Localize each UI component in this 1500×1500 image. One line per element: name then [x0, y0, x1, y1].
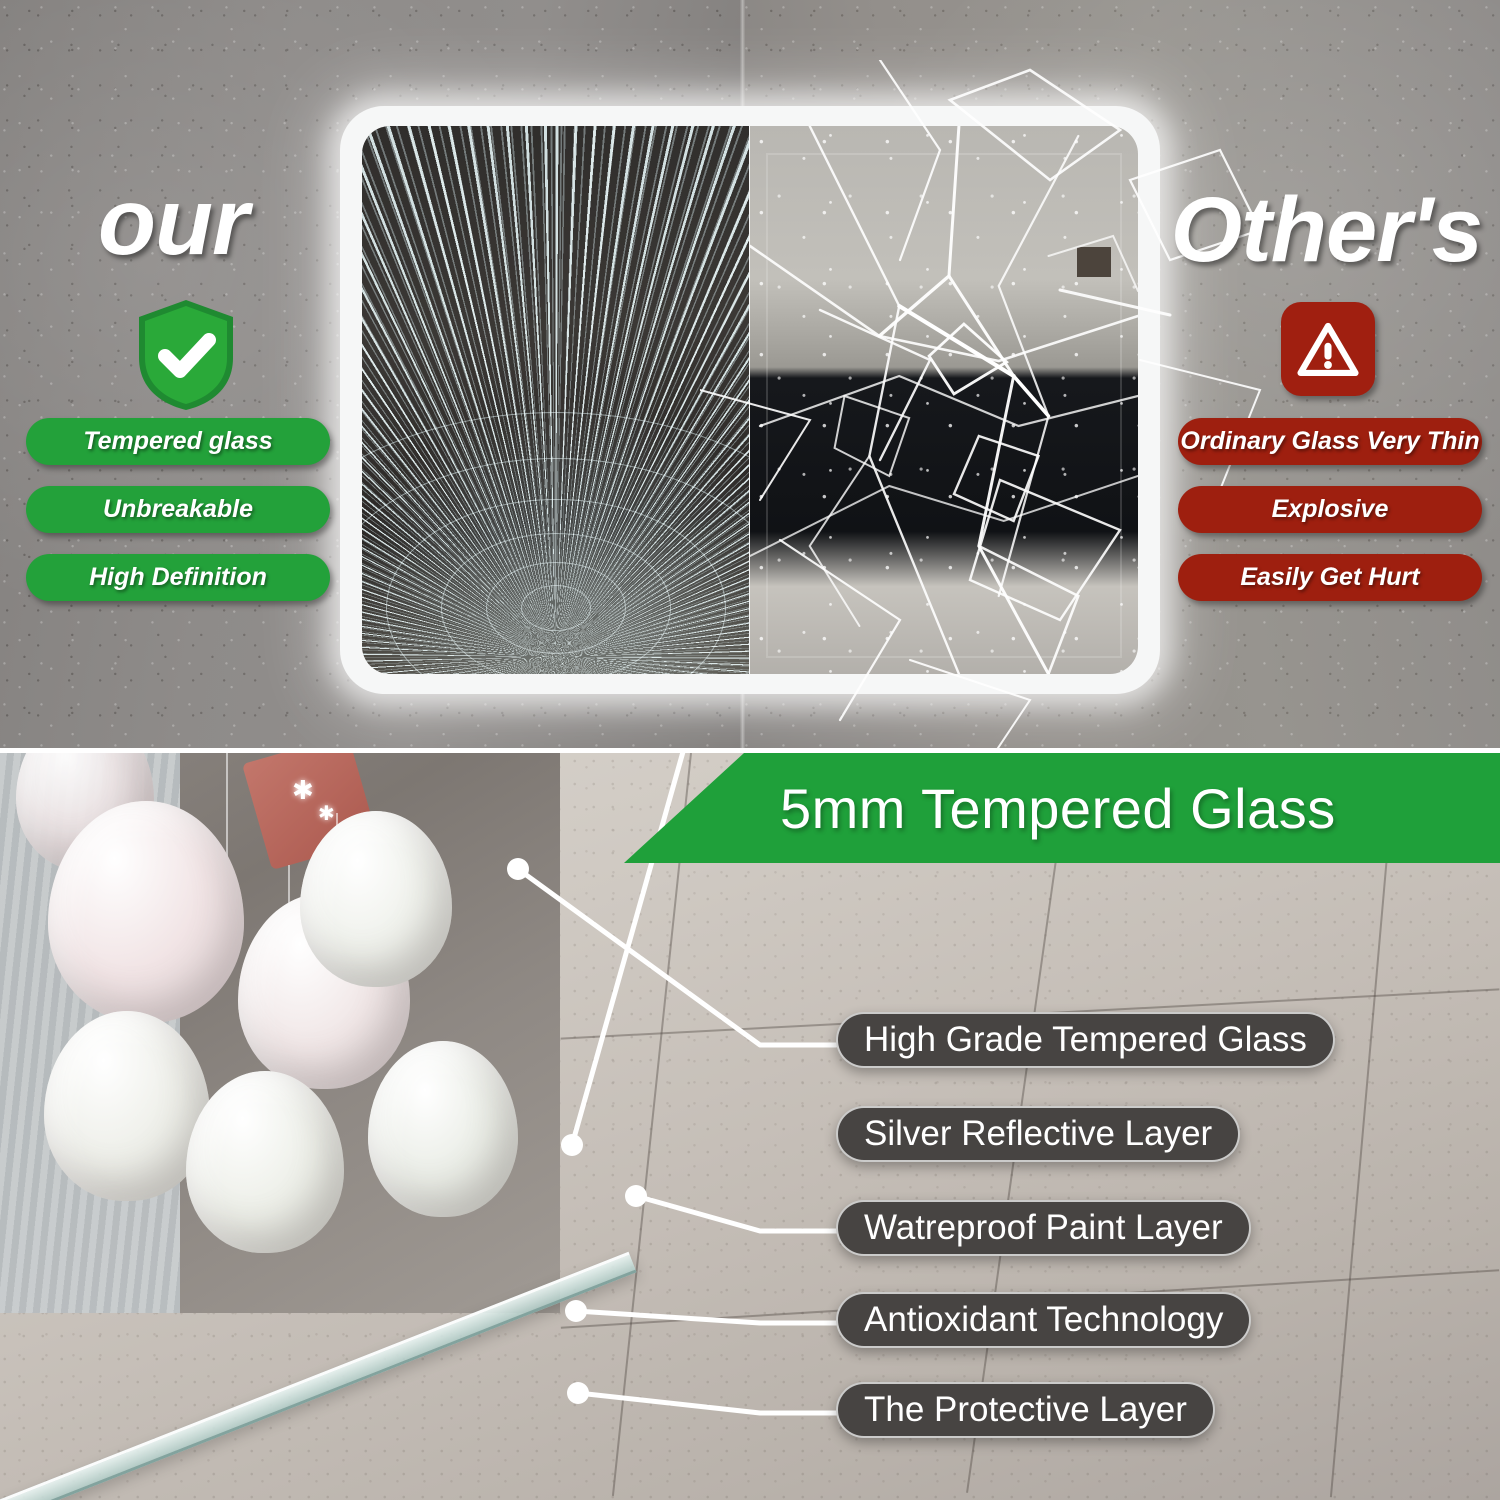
- chip-unbreakable[interactable]: Unbreakable: [26, 486, 330, 533]
- others-drawback-list: Ordinary Glass Very Thin Explosive Easil…: [1178, 418, 1482, 601]
- chip-tempered-glass[interactable]: Tempered glass: [26, 418, 330, 465]
- callout-protective-layer[interactable]: The Protective Layer: [836, 1382, 1215, 1438]
- comparison-panel: our Tempered glass Unbreakable High Defi…: [0, 0, 1500, 748]
- page-title-our: our: [98, 168, 248, 277]
- mirror-glass-surface: [362, 126, 1138, 674]
- led-mirror-unit: [340, 106, 1160, 694]
- callout-waterproof-paint-layer[interactable]: Watreproof Paint Layer: [836, 1200, 1251, 1256]
- our-benefit-list: Tempered glass Unbreakable High Definiti…: [26, 418, 330, 601]
- construction-panel: ✱ ✱: [0, 753, 1500, 1500]
- glass-shard-cracks: [750, 126, 1138, 674]
- chip-easily-get-hurt[interactable]: Easily Get Hurt: [1178, 554, 1482, 601]
- warning-triangle-icon: [1281, 302, 1375, 396]
- chip-explosive[interactable]: Explosive: [1178, 486, 1482, 533]
- page-title-others: Other's: [1171, 178, 1482, 283]
- tempered-glass-break-photo: [362, 126, 749, 674]
- ordinary-glass-break-photo: [750, 126, 1138, 674]
- infographic-page: our Tempered glass Unbreakable High Defi…: [0, 0, 1500, 1500]
- callout-antioxidant-technology[interactable]: Antioxidant Technology: [836, 1292, 1251, 1348]
- shield-check-icon: [133, 296, 239, 414]
- callout-silver-reflective-layer[interactable]: Silver Reflective Layer: [836, 1106, 1240, 1162]
- callout-high-grade-tempered-glass[interactable]: High Grade Tempered Glass: [836, 1012, 1335, 1068]
- layer-callout-list: High Grade Tempered Glass Silver Reflect…: [0, 753, 1500, 1500]
- chip-high-definition[interactable]: High Definition: [26, 554, 330, 601]
- chip-ordinary-glass-very-thin[interactable]: Ordinary Glass Very Thin: [1178, 418, 1482, 465]
